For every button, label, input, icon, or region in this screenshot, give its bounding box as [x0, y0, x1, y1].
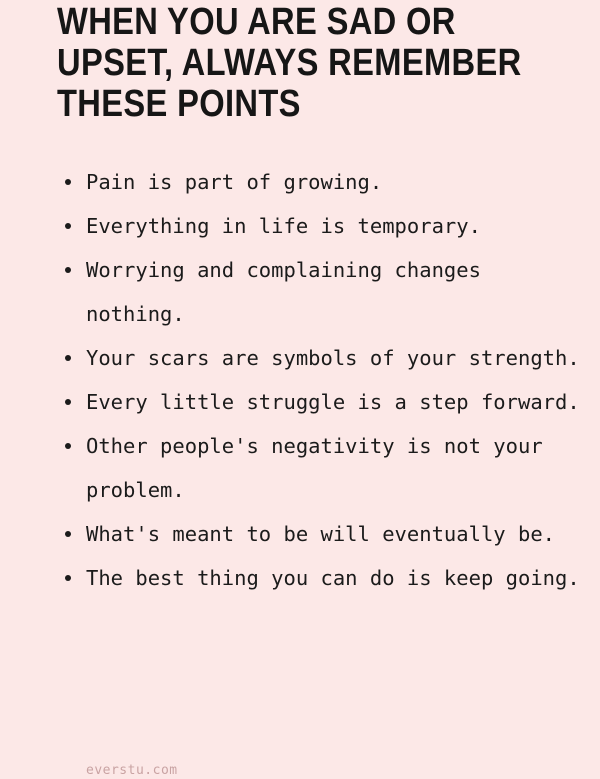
list-item: What's meant to be will eventually be. — [0, 512, 600, 556]
list-item-text: What's meant to be will eventually be. — [86, 512, 590, 556]
list-item: Everything in life is temporary. — [0, 204, 600, 248]
bullet-dot-icon — [65, 575, 71, 581]
bullet-dot-icon — [65, 531, 71, 537]
list-item: Pain is part of growing. — [0, 160, 600, 204]
bullet-dot-icon — [65, 223, 71, 229]
watermark: everstu.com — [86, 762, 178, 779]
headline-line-3: THESE POINTS — [57, 84, 487, 125]
bullet-dot-icon — [65, 267, 71, 273]
list-item-text: Every little struggle is a step forward. — [86, 380, 590, 424]
headline-line-2: UPSET, ALWAYS REMEMBER — [57, 43, 487, 84]
list-item-text: Pain is part of growing. — [86, 160, 590, 204]
list-item: Every little struggle is a step forward. — [0, 380, 600, 424]
list-item: Worrying and complaining changes nothing… — [0, 248, 600, 336]
points-list: Pain is part of growing. Everything in l… — [0, 160, 600, 600]
list-item-text: Worrying and complaining changes nothing… — [86, 248, 590, 336]
list-item-text: The best thing you can do is keep going. — [86, 556, 590, 600]
bullet-dot-icon — [65, 355, 71, 361]
list-item: Other people's negativity is not your pr… — [0, 424, 600, 512]
list-item-text: Everything in life is temporary. — [86, 204, 590, 248]
bullet-dot-icon — [65, 179, 71, 185]
list-item-text: Your scars are symbols of your strength. — [86, 336, 590, 380]
bullet-dot-icon — [65, 399, 71, 405]
quote-poster: WHEN YOU ARE SAD OR UPSET, ALWAYS REMEMB… — [0, 0, 600, 779]
bullet-dot-icon — [65, 443, 71, 449]
list-item: The best thing you can do is keep going. — [0, 556, 600, 600]
page-title: WHEN YOU ARE SAD OR UPSET, ALWAYS REMEMB… — [57, 2, 487, 125]
list-item-text: Other people's negativity is not your pr… — [86, 424, 590, 512]
headline-line-1: WHEN YOU ARE SAD OR — [57, 2, 487, 43]
list-item: Your scars are symbols of your strength. — [0, 336, 600, 380]
